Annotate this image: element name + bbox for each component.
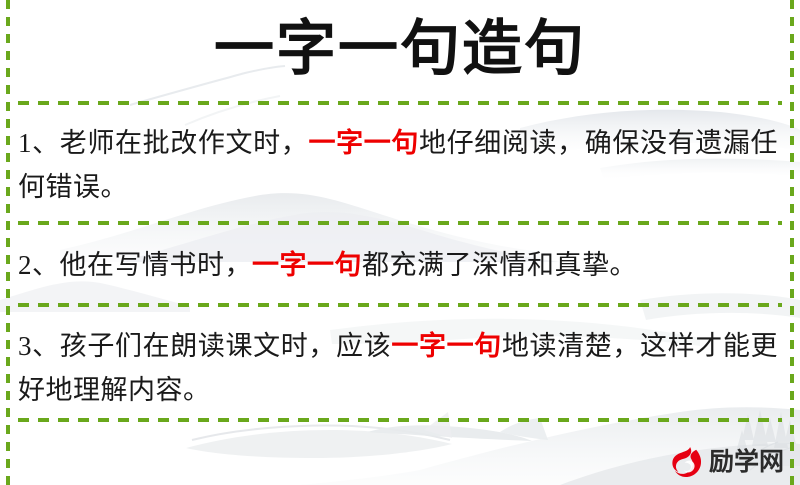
sentence-2-index: 2、 bbox=[18, 250, 60, 280]
sentence-1-pre: 老师在批改作文时， bbox=[60, 128, 309, 158]
divider-after-sentence-1 bbox=[18, 221, 782, 225]
sentence-2-pre: 他在写情书时， bbox=[60, 250, 253, 280]
example-sentence-3: 3、孩子们在朗读课文时，应该一字一句地读清楚，这样才能更好地理解内容。 bbox=[18, 324, 778, 412]
worksheet-page: 一字一句造句 1、老师在批改作文时，一字一句地仔细阅读，确保没有遗漏任何错误。 … bbox=[0, 0, 800, 485]
sentence-3-index: 3、 bbox=[18, 331, 60, 361]
logo-text: 励学网 bbox=[709, 445, 784, 479]
sentence-1-index: 1、 bbox=[18, 128, 60, 158]
flame-swirl-icon bbox=[671, 445, 705, 479]
divider-below-title bbox=[18, 101, 782, 105]
example-sentence-1: 1、老师在批改作文时，一字一句地仔细阅读，确保没有遗漏任何错误。 bbox=[18, 121, 778, 209]
sentence-2-post: 都充满了深情和真挚。 bbox=[362, 250, 637, 280]
sentence-3-pre: 孩子们在朗读课文时，应该 bbox=[60, 331, 392, 361]
page-title: 一字一句造句 bbox=[0, 10, 800, 88]
divider-after-sentence-2 bbox=[18, 303, 782, 307]
sentence-2-keyword: 一字一句 bbox=[252, 250, 362, 280]
site-logo[interactable]: 励学网 bbox=[671, 445, 784, 479]
sentence-1-keyword: 一字一句 bbox=[308, 128, 419, 158]
divider-after-sentence-3 bbox=[18, 418, 782, 422]
example-sentence-2: 2、他在写情书时，一字一句都充满了深情和真挚。 bbox=[18, 243, 778, 287]
sentence-3-keyword: 一字一句 bbox=[391, 331, 502, 361]
